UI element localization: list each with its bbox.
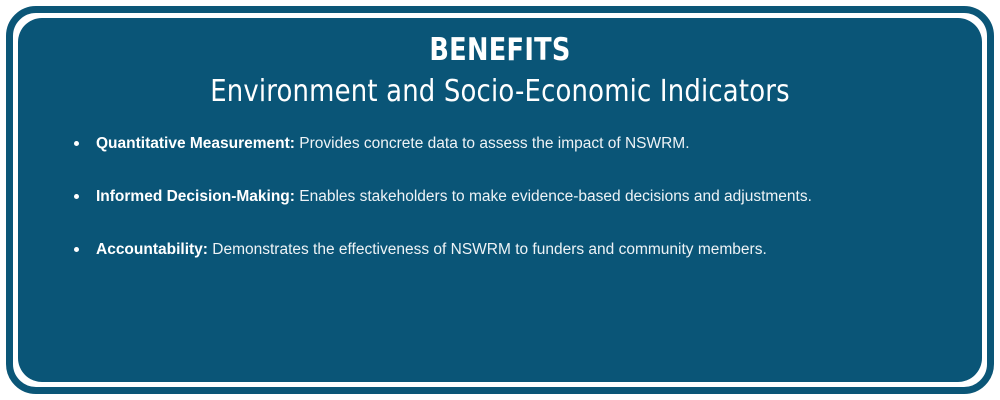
card-panel: BENEFITS Environment and Socio-Economic … [18, 18, 982, 382]
list-item: Quantitative Measurement: Provides concr… [74, 130, 940, 157]
list-item-lead-in: Quantitative Measurement: [96, 135, 295, 152]
list-item-text: Demonstrates the effectiveness of NSWRM … [208, 241, 767, 258]
list-item-text: Enables stakeholders to make evidence-ba… [295, 188, 812, 205]
bullet-dot-icon [74, 247, 79, 252]
list-item-lead-in: Accountability: [96, 241, 208, 258]
list-item-text: Provides concrete data to assess the imp… [295, 135, 690, 152]
list-item: Accountability: Demonstrates the effecti… [74, 236, 940, 263]
card-subtitle: Environment and Socio-Economic Indicator… [62, 74, 938, 110]
list-item: Informed Decision-Making: Enables stakeh… [74, 183, 940, 210]
list-item-lead-in: Informed Decision-Making: [96, 188, 295, 205]
bullet-dot-icon [74, 194, 79, 199]
benefits-card: BENEFITS Environment and Socio-Economic … [6, 6, 994, 394]
page-title: BENEFITS [80, 32, 919, 68]
benefits-list: Quantitative Measurement: Provides concr… [44, 130, 956, 263]
bullet-dot-icon [74, 141, 79, 146]
